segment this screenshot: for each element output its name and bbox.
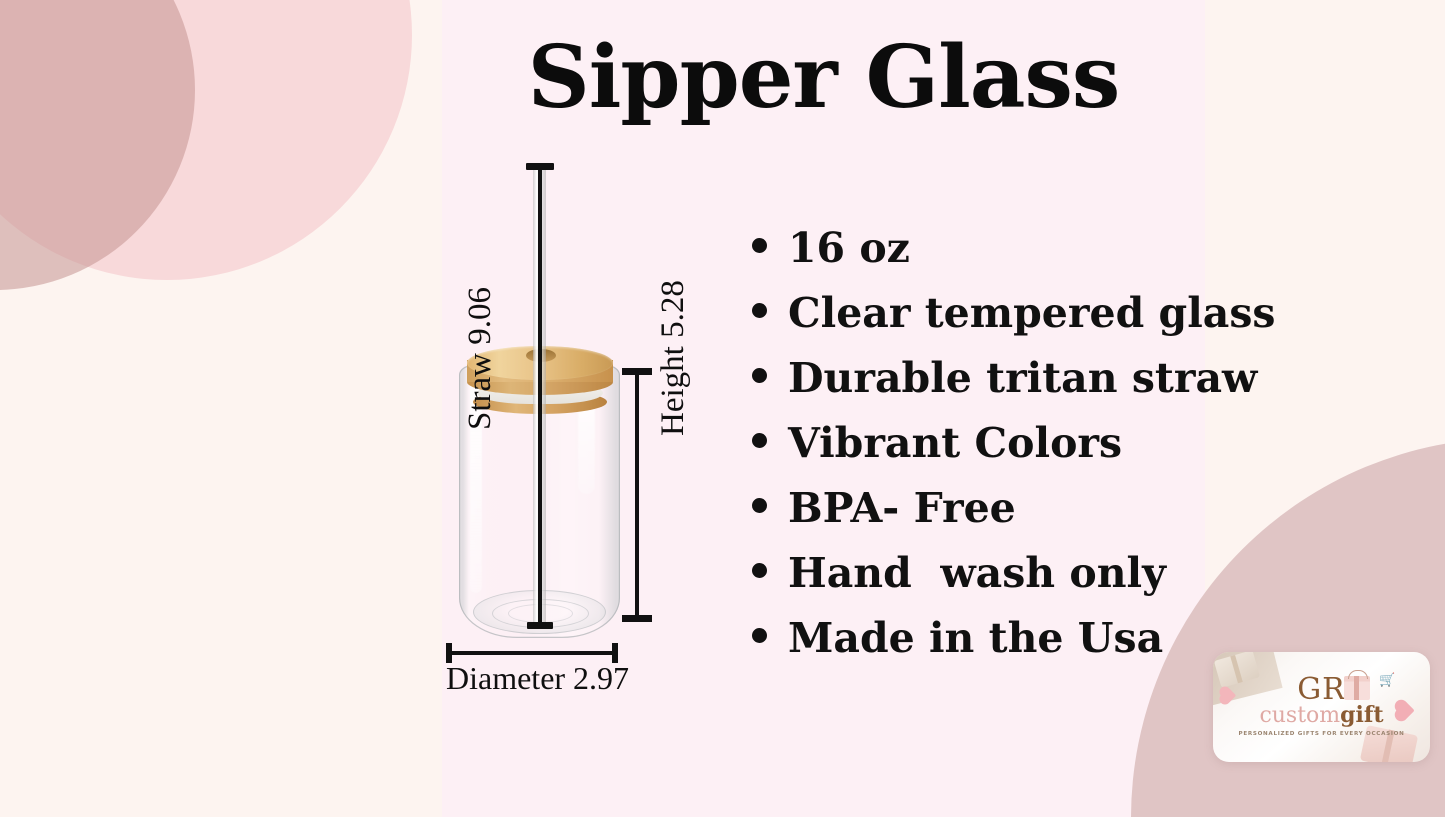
- brand-word-custom: custom: [1259, 703, 1340, 728]
- height-dimension-label: Height 5.28: [655, 280, 692, 436]
- bullet-dot-icon: [752, 628, 767, 643]
- brand-wordmark: customgift: [1213, 704, 1430, 727]
- bullet-dot-icon: [752, 498, 767, 513]
- straw-measure-line: [538, 166, 542, 628]
- brand-monogram: GR: [1213, 675, 1430, 705]
- brand-tagline: PERSONALIZED GIFTS FOR EVERY OCCASION: [1213, 731, 1430, 737]
- feature-label: Vibrant Colors: [788, 423, 1122, 464]
- list-item: Durable tritan straw: [752, 358, 1222, 423]
- feature-label: BPA- Free: [788, 488, 1016, 529]
- straw-dimension-label: Straw 9.06: [462, 287, 499, 430]
- straw-measure-cap-bottom: [527, 622, 553, 629]
- diameter-dimension-line: [446, 651, 618, 655]
- feature-label: Clear tempered glass: [788, 293, 1276, 334]
- height-dimension-cap-bottom: [622, 615, 652, 622]
- height-dimension-line: [635, 368, 639, 622]
- feature-label: Made in the Usa: [788, 618, 1163, 659]
- list-item: Made in the Usa: [752, 618, 1222, 683]
- feature-list: 16 oz Clear tempered glass Durable trita…: [752, 228, 1222, 683]
- list-item: BPA- Free: [752, 488, 1222, 553]
- list-item: Hand wash only: [752, 553, 1222, 618]
- height-dimension-cap-top: [622, 368, 652, 375]
- bullet-dot-icon: [752, 303, 767, 318]
- list-item: Clear tempered glass: [752, 293, 1222, 358]
- brand-word-gift: gift: [1340, 702, 1383, 728]
- feature-label: Durable tritan straw: [788, 358, 1257, 399]
- bullet-dot-icon: [752, 433, 767, 448]
- feature-label: Hand wash only: [788, 553, 1166, 594]
- page-title: Sipper Glass: [442, 34, 1205, 122]
- brand-logo-card: 🛒 GR customgift PERSONALIZED GIFTS FOR E…: [1213, 652, 1430, 762]
- bullet-dot-icon: [752, 238, 767, 253]
- straw-measure-cap-top: [526, 163, 554, 170]
- list-item: Vibrant Colors: [752, 423, 1222, 488]
- diameter-dimension-label: Diameter 2.97: [446, 660, 618, 697]
- list-item: 16 oz: [752, 228, 1222, 293]
- bullet-dot-icon: [752, 368, 767, 383]
- gift-box-icon: [1344, 676, 1370, 700]
- bullet-dot-icon: [752, 563, 767, 578]
- feature-label: 16 oz: [788, 228, 910, 269]
- infographic-canvas: Sipper Glass Straw 9.06 Height 5.28 Diam…: [0, 0, 1445, 817]
